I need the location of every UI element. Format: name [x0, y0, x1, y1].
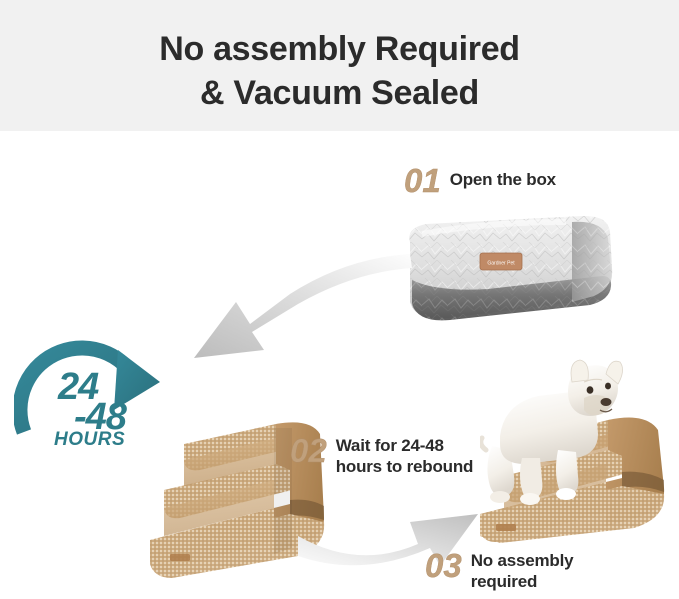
arrow-down-left-icon [178, 252, 414, 364]
infographic-canvas: No assembly Required & Vacuum Sealed [0, 0, 679, 599]
package-brand-tag: Gardner Pet [480, 253, 522, 270]
step-01: 01 Open the box [404, 164, 556, 197]
step-01-text: Open the box [450, 164, 556, 191]
step-03: 03 No assembly required [425, 549, 573, 592]
page-title: No assembly Required & Vacuum Sealed [0, 28, 679, 115]
step-02-number: 02 [290, 434, 327, 467]
step-01-number: 01 [404, 164, 441, 197]
vacuum-sealed-package-image: Gardner Pet [396, 206, 622, 328]
stairs-right-brand-tag [496, 524, 516, 531]
step-03-text: No assembly required [471, 549, 574, 592]
badge-line-3: HOURS [54, 430, 125, 449]
stairs-brand-tag [170, 554, 190, 561]
pet-stairs-with-dog-image [480, 358, 679, 543]
step-03-number: 03 [425, 549, 462, 582]
step-02-text: Wait for 24-48 hours to rebound [336, 434, 474, 477]
package-brand-tag-label: Gardner Pet [487, 261, 515, 267]
step-02: 02 Wait for 24-48 hours to rebound [290, 434, 473, 477]
